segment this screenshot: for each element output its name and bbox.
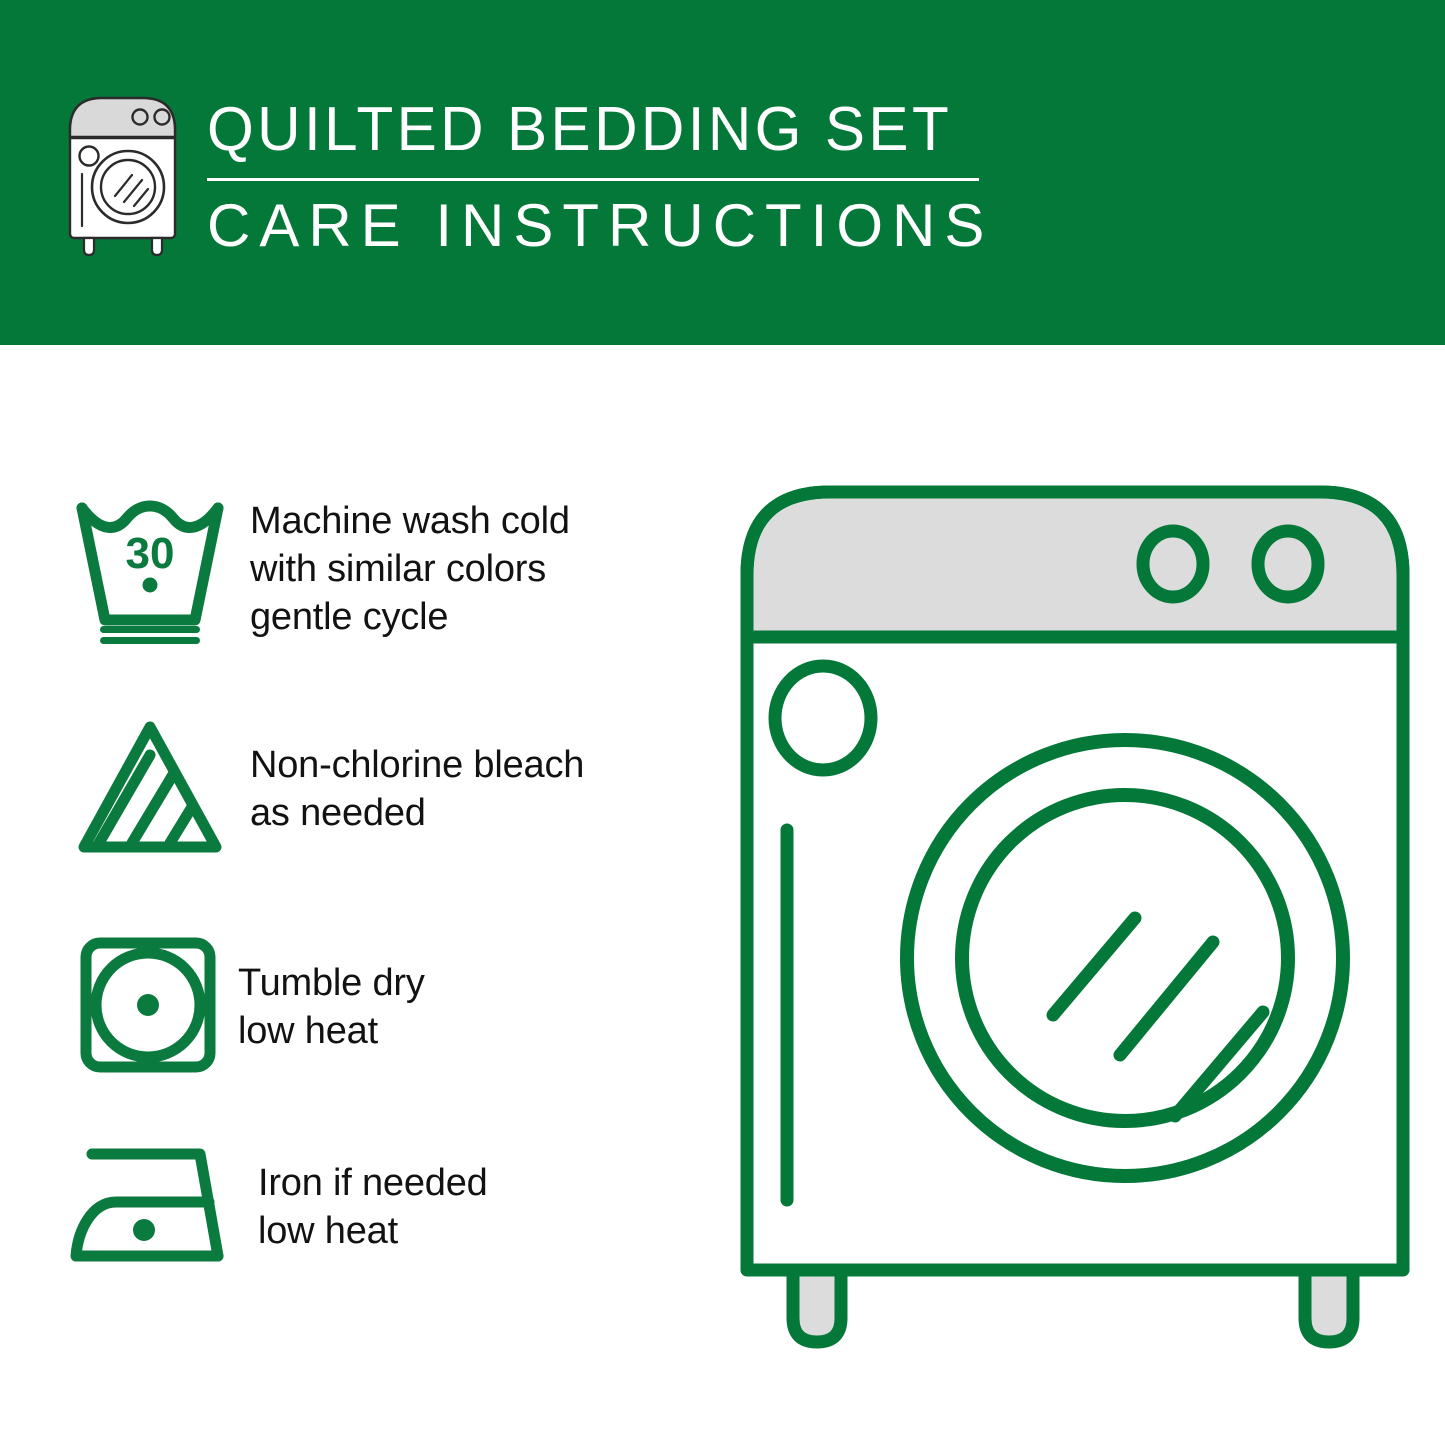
wash-tub-icon: 30: [70, 490, 230, 650]
instruction-line: as needed: [250, 790, 584, 838]
instruction-text-wash: Machine wash cold with similar colors ge…: [250, 498, 570, 642]
instruction-row-wash: 30 Machine wash cold with similar colors…: [70, 490, 570, 650]
page-subtitle: CARE INSTRUCTIONS: [207, 195, 993, 256]
bleach-triangle-icon: [70, 715, 230, 865]
tumble-dry-icon: [78, 935, 218, 1080]
instruction-line: Machine wash cold: [250, 498, 570, 546]
leg-right: [1305, 1270, 1353, 1342]
instruction-row-iron: Iron if needed low heat: [68, 1140, 488, 1275]
instruction-text-bleach: Non-chlorine bleach as needed: [250, 742, 584, 838]
washing-machine-icon: [60, 92, 185, 257]
wash-temperature-label: 30: [126, 529, 175, 578]
page-title: QUILTED BEDDING SET: [207, 98, 970, 161]
instruction-line: Iron if needed: [258, 1160, 488, 1208]
iron-icon: [68, 1140, 238, 1275]
dispenser-circle: [775, 666, 871, 770]
instruction-line: with similar colors: [250, 546, 570, 594]
instruction-line: gentle cycle: [250, 594, 570, 642]
instruction-line: low heat: [238, 1008, 425, 1056]
care-instructions-page: QUILTED BEDDING SET CARE INSTRUCTIONS 30: [0, 0, 1445, 1445]
instructions-list: 30 Machine wash cold with similar colors…: [0, 345, 720, 1445]
instruction-line: low heat: [258, 1208, 488, 1256]
header-banner: QUILTED BEDDING SET CARE INSTRUCTIONS: [0, 0, 1445, 345]
header-titles: QUILTED BEDDING SET CARE INSTRUCTIONS: [207, 92, 993, 256]
instruction-text-tumble-dry: Tumble dry low heat: [238, 960, 425, 1056]
header-content: QUILTED BEDDING SET CARE INSTRUCTIONS: [60, 92, 993, 257]
instruction-line: Non-chlorine bleach: [250, 742, 584, 790]
instruction-line: Tumble dry: [238, 960, 425, 1008]
instruction-text-iron: Iron if needed low heat: [258, 1160, 488, 1256]
title-divider: [207, 178, 979, 181]
knob-left: [1143, 531, 1203, 597]
instruction-row-bleach: Non-chlorine bleach as needed: [70, 715, 584, 865]
front-load-washing-machine-illustration: [735, 480, 1415, 1360]
drum-door-inner: [962, 795, 1288, 1121]
leg-left: [793, 1270, 841, 1342]
instruction-row-tumble-dry: Tumble dry low heat: [78, 935, 425, 1080]
knob-right: [1258, 531, 1318, 597]
